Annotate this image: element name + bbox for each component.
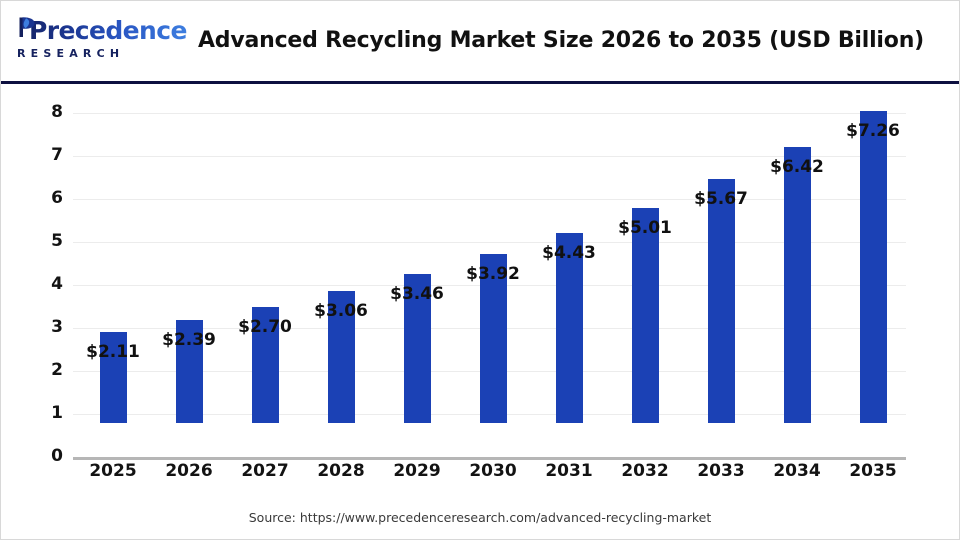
bar-value-label-2027: $2.70 xyxy=(227,317,303,337)
bar-value-label-2025: $2.11 xyxy=(75,342,151,362)
bar-2035[interactable] xyxy=(860,111,887,423)
y-axis-tick-7: 7 xyxy=(11,145,63,165)
bar-group-2032[interactable]: $5.01 xyxy=(607,208,683,457)
y-axis-tick-1: 1 xyxy=(11,403,63,423)
bar-group-2035[interactable]: $7.26 xyxy=(835,111,911,457)
header-divider xyxy=(1,81,959,84)
y-axis-tick-4: 4 xyxy=(11,274,63,294)
logo-subtitle: RESEARCH xyxy=(15,47,165,60)
x-axis-tick-2026: 2026 xyxy=(151,461,227,481)
x-axis-tick-2032: 2032 xyxy=(607,461,683,481)
y-axis-tick-6: 6 xyxy=(11,188,63,208)
bar-2032[interactable] xyxy=(632,208,659,423)
bar-series: $2.112025$2.392026$2.702027$3.062028$3.4… xyxy=(73,85,906,540)
x-axis-tick-2027: 2027 xyxy=(227,461,303,481)
x-axis-tick-2033: 2033 xyxy=(683,461,759,481)
bar-group-2027[interactable]: $2.70 xyxy=(227,307,303,457)
x-axis-tick-2025: 2025 xyxy=(75,461,151,481)
bar-value-label-2029: $3.46 xyxy=(379,284,455,304)
bar-value-label-2031: $4.43 xyxy=(531,243,607,263)
bar-value-label-2028: $3.06 xyxy=(303,301,379,321)
y-axis-tick-0: 0 xyxy=(11,446,63,466)
bar-value-label-2034: $6.42 xyxy=(759,157,835,177)
x-axis-tick-2028: 2028 xyxy=(303,461,379,481)
bar-group-2030[interactable]: $3.92 xyxy=(455,254,531,457)
x-axis-tick-2034: 2034 xyxy=(759,461,835,481)
bar-2034[interactable] xyxy=(784,147,811,423)
bar-value-label-2033: $5.67 xyxy=(683,189,759,209)
logo-name: Precedence xyxy=(15,17,187,45)
source-caption: Source: https://www.precedenceresearch.c… xyxy=(1,510,959,525)
bar-group-2033[interactable]: $5.67 xyxy=(683,179,759,457)
bar-group-2026[interactable]: $2.39 xyxy=(151,320,227,457)
bar-2033[interactable] xyxy=(708,179,735,423)
x-axis-tick-2035: 2035 xyxy=(835,461,911,481)
bar-group-2034[interactable]: $6.42 xyxy=(759,147,835,457)
bar-group-2031[interactable]: $4.43 xyxy=(531,233,607,457)
bar-group-2025[interactable]: $2.11 xyxy=(75,332,151,457)
x-axis-tick-2029: 2029 xyxy=(379,461,455,481)
precedence-research-logo: Precedence RESEARCH xyxy=(15,15,165,67)
x-axis-tick-2031: 2031 xyxy=(531,461,607,481)
plot-area: 012345678 $2.112025$2.392026$2.702027$3.… xyxy=(1,85,959,540)
leaf-p-icon xyxy=(18,16,35,38)
y-axis-tick-8: 8 xyxy=(11,102,63,122)
page-title: Advanced Recycling Market Size 2026 to 2… xyxy=(181,28,941,53)
x-axis-tick-2030: 2030 xyxy=(455,461,531,481)
y-axis-tick-3: 3 xyxy=(11,317,63,337)
bar-value-label-2035: $7.26 xyxy=(835,121,911,141)
bar-value-label-2032: $5.01 xyxy=(607,218,683,238)
bar-group-2029[interactable]: $3.46 xyxy=(379,274,455,457)
bar-group-2028[interactable]: $3.06 xyxy=(303,291,379,457)
y-axis-tick-5: 5 xyxy=(11,231,63,251)
logo-wordmark: Precedence xyxy=(15,15,165,45)
chart-header: Precedence RESEARCH Advanced Recycling M… xyxy=(1,1,959,81)
y-axis-tick-2: 2 xyxy=(11,360,63,380)
bar-value-label-2030: $3.92 xyxy=(455,264,531,284)
chart-card: Precedence RESEARCH Advanced Recycling M… xyxy=(0,0,960,540)
bar-value-label-2026: $2.39 xyxy=(151,330,227,350)
